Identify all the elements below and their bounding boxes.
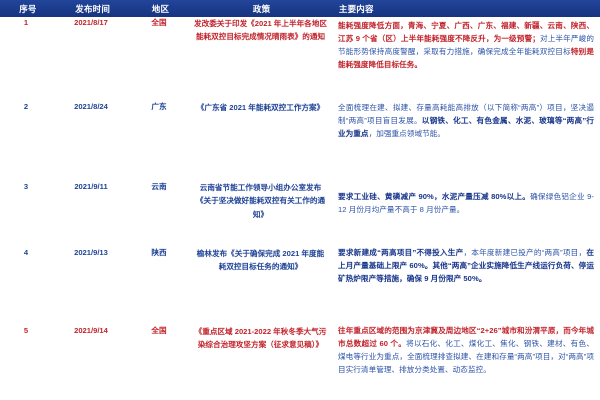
cell-content: 要求工业硅、黄磷减产 90%，水泥产量压减 80%以上。确保绿色铝企业 9-12…	[333, 181, 600, 217]
cell-date: 2021/8/24	[52, 101, 130, 114]
column-header-content: 主要内容	[334, 3, 600, 15]
table-row: 52021/9/14全国《重点区域 2021-2022 年秋冬季大气污染综合治理…	[0, 325, 600, 400]
column-header-region: 地区	[132, 3, 190, 15]
cell-policy: 《广东省 2021 年能耗双控工作方案》	[188, 101, 333, 114]
content-emphasis: 要求新建成“两高项目”不得投入生产	[338, 248, 463, 257]
cell-date: 2021/9/14	[52, 325, 130, 338]
table-row: 12021/8/17全国发改委关于印发《2021 年上半年各地区能耗双控目标完成…	[0, 17, 600, 101]
content-text: ，本年度新建已投产的“两高”项目，	[463, 248, 586, 257]
cell-policy: 发改委关于印发《2021 年上半年各地区能耗双控目标完成情况晴雨表》的通知	[188, 17, 333, 44]
table-row: 22021/8/24广东《广东省 2021 年能耗双控工作方案》全面梳理在建、拟…	[0, 101, 600, 181]
column-header-no: 序号	[0, 3, 54, 15]
cell-region: 广东	[130, 101, 188, 114]
cell-date: 2021/9/11	[52, 181, 130, 194]
cell-no: 5	[0, 325, 52, 338]
cell-policy: 《重点区域 2021-2022 年秋冬季大气污染综合治理攻坚方案（征求意见稿）》	[188, 325, 333, 352]
policy-table-document: 序号 发布时间 地区 政策 主要内容 12021/8/17全国发改委关于印发《2…	[0, 0, 600, 400]
cell-no: 2	[0, 101, 52, 114]
table-body: 12021/8/17全国发改委关于印发《2021 年上半年各地区能耗双控目标完成…	[0, 17, 600, 400]
content-emphasis: 要求工业硅、黄磷减产 90%，水泥产量压减 80%以上。	[338, 192, 530, 201]
cell-region: 陕西	[130, 247, 188, 260]
cell-no: 1	[0, 17, 52, 30]
table-row: 32021/9/11云南云南省节能工作领导小组办公室发布《关于坚决做好能耗双控有…	[0, 181, 600, 247]
cell-date: 2021/9/13	[52, 247, 130, 260]
column-header-policy: 政策	[189, 3, 334, 15]
content-text: ，加强重点领域节能。	[369, 129, 445, 138]
cell-region: 全国	[130, 17, 188, 30]
cell-no: 3	[0, 181, 52, 194]
cell-policy: 榆林发布《关于确保完成 2021 年度能耗双控目标任务的通知》	[188, 247, 333, 274]
cell-region: 全国	[130, 325, 188, 338]
cell-no: 4	[0, 247, 52, 260]
cell-content: 全面梳理在建、拟建、存量高耗能高排放（以下简称“两高”）项目，坚决遏制“两高”项…	[333, 101, 600, 141]
cell-policy: 云南省节能工作领导小组办公室发布《关于坚决做好能耗双控有关工作的通知》	[188, 181, 333, 221]
cell-content: 要求新建成“两高项目”不得投入生产，本年度新建已投产的“两高”项目，在上月产量基…	[333, 247, 600, 286]
column-header-date: 发布时间	[54, 3, 132, 15]
table-header-row: 序号 发布时间 地区 政策 主要内容	[0, 0, 600, 17]
cell-date: 2021/8/17	[52, 17, 130, 30]
cell-content: 往年重点区域的范围为京津冀及周边地区“2+26”城市和汾渭平原，而今年城市总数超…	[333, 325, 600, 377]
table-row: 42021/9/13陕西榆林发布《关于确保完成 2021 年度能耗双控目标任务的…	[0, 247, 600, 325]
cell-content: 能耗强度降低方面，青海、宁夏、广西、广东、福建、新疆、云南、陕西、江苏 9 个省…	[333, 17, 600, 72]
cell-region: 云南	[130, 181, 188, 194]
